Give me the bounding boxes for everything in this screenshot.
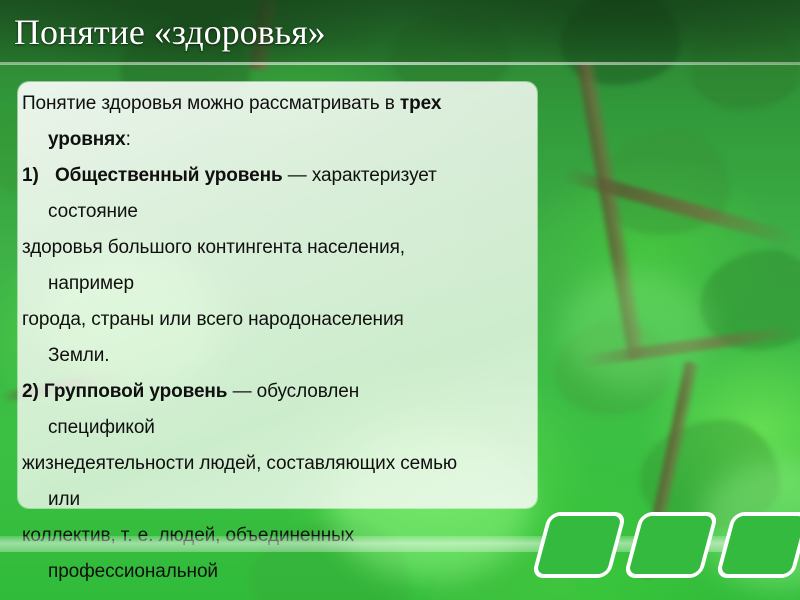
content-body: Понятие здоровья можно рассматривать в т… xyxy=(22,86,582,600)
text-line: Земли. xyxy=(22,338,582,374)
plain-text: профессиональной xyxy=(48,561,218,582)
plain-text: коллектив, т. е. людей, объединенных xyxy=(22,525,354,546)
plain-text: например xyxy=(48,273,134,294)
list-item: 1)Общественный уровень — характеризует xyxy=(22,158,582,194)
emphasis-text: 2) Групповой уровень xyxy=(22,381,227,402)
plain-text: состояние xyxy=(48,201,138,222)
plain-text: или xyxy=(48,489,80,510)
bottom-decoration-group xyxy=(534,512,800,580)
text-line: здоровья большого контингента населения, xyxy=(22,230,582,266)
text-line: профессиональной xyxy=(22,554,582,590)
plain-text: — характеризует xyxy=(283,165,437,186)
text-line: принадлежностью или условиями совместног… xyxy=(22,590,582,600)
plain-text: Земли. xyxy=(48,345,109,366)
text-line: Понятие здоровья можно рассматривать в т… xyxy=(22,86,582,122)
text-line: состояние xyxy=(22,194,582,230)
text-line: уровнях: xyxy=(22,122,582,158)
list-marker: 1) xyxy=(22,158,39,194)
plain-text: — обусловлен xyxy=(227,381,359,402)
plain-text: : xyxy=(126,129,131,150)
page-title: Понятие «здоровья» xyxy=(14,10,784,54)
plain-text: спецификой xyxy=(48,417,155,438)
text-line: жизнедеятельности людей, составляющих се… xyxy=(22,446,582,482)
plain-text: жизнедеятельности людей, составляющих се… xyxy=(22,453,457,474)
emphasis-text: трех xyxy=(400,93,441,114)
text-line: например xyxy=(22,266,582,302)
emphasis-text: уровнях xyxy=(48,129,126,150)
slide: Понятие «здоровья» Понятие здоровья можн… xyxy=(0,0,800,600)
green-parallelogram-icon xyxy=(715,512,800,578)
text-line: коллектив, т. е. людей, объединенных xyxy=(22,518,582,554)
emphasis-text: Общественный уровень xyxy=(55,165,283,186)
text-line: или xyxy=(22,482,582,518)
plain-text: города, страны или всего народонаселения xyxy=(22,309,404,330)
plain-text: Понятие здоровья можно рассматривать в xyxy=(22,93,400,114)
plain-text: здоровья большого контингента населения, xyxy=(22,237,405,258)
green-parallelogram-icon xyxy=(623,512,719,578)
text-line: 2) Групповой уровень — обусловлен xyxy=(22,374,582,410)
text-line: города, страны или всего народонаселения xyxy=(22,302,582,338)
text-line: спецификой xyxy=(22,410,582,446)
green-parallelogram-icon xyxy=(531,512,627,578)
